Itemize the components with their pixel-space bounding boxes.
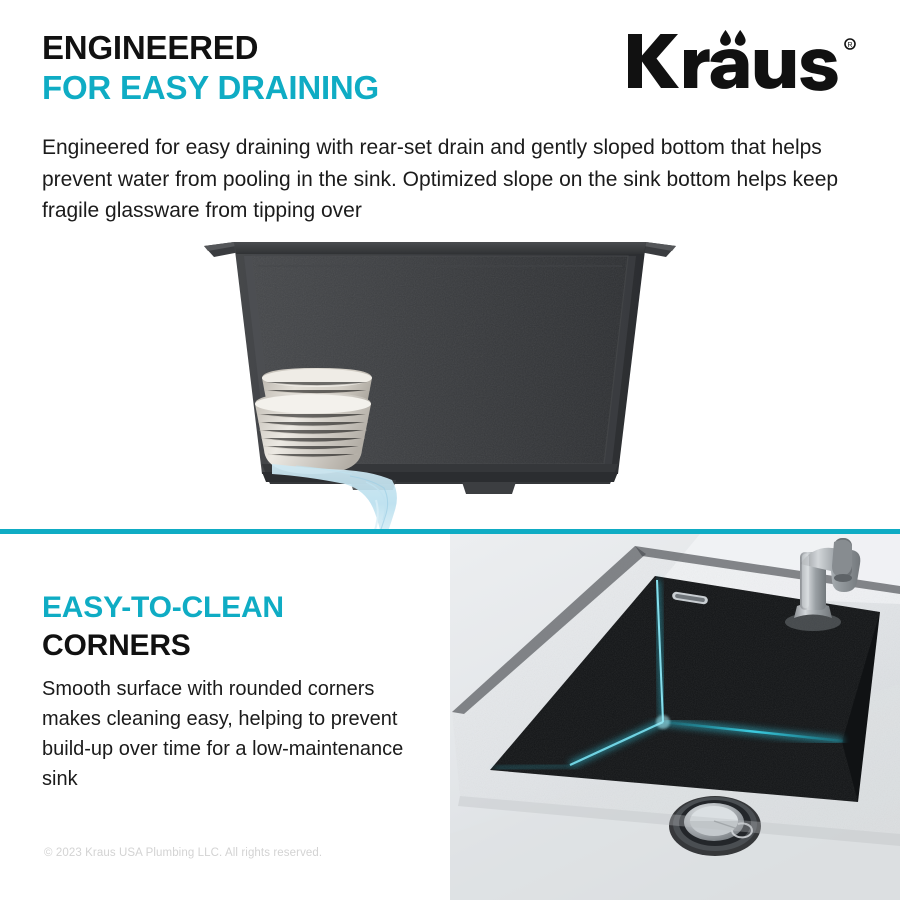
stacked-bowls [255,368,372,474]
kraus-logo: R [626,30,858,92]
copyright-notice: © 2023 Kraus USA Plumbing LLC. All right… [44,847,322,859]
section-engineered-for-easy-draining: ENGINEERED FOR EASY DRAINING Engineered … [0,0,900,529]
registered-mark: R [845,39,855,49]
heading2-line-2: CORNERS [42,627,442,665]
heading2-line-1: EASY-TO-CLEAN [42,589,442,627]
svg-text:R: R [847,42,852,49]
infographic-page: ENGINEERED FOR EASY DRAINING Engineered … [0,0,900,900]
sink-draining-image [200,232,680,532]
heading-line-1: ENGINEERED [42,28,602,68]
teal-divider [0,529,900,534]
page-title: ENGINEERED FOR EASY DRAINING [42,28,602,108]
heading-line-2: FOR EASY DRAINING [42,68,602,108]
body-paragraph-bottom: Smooth surface with rounded corners make… [42,674,417,794]
body-paragraph-top: Engineered for easy draining with rear-s… [42,132,842,227]
sink-corners-image [450,534,900,900]
section-title: EASY-TO-CLEAN CORNERS [42,589,442,665]
